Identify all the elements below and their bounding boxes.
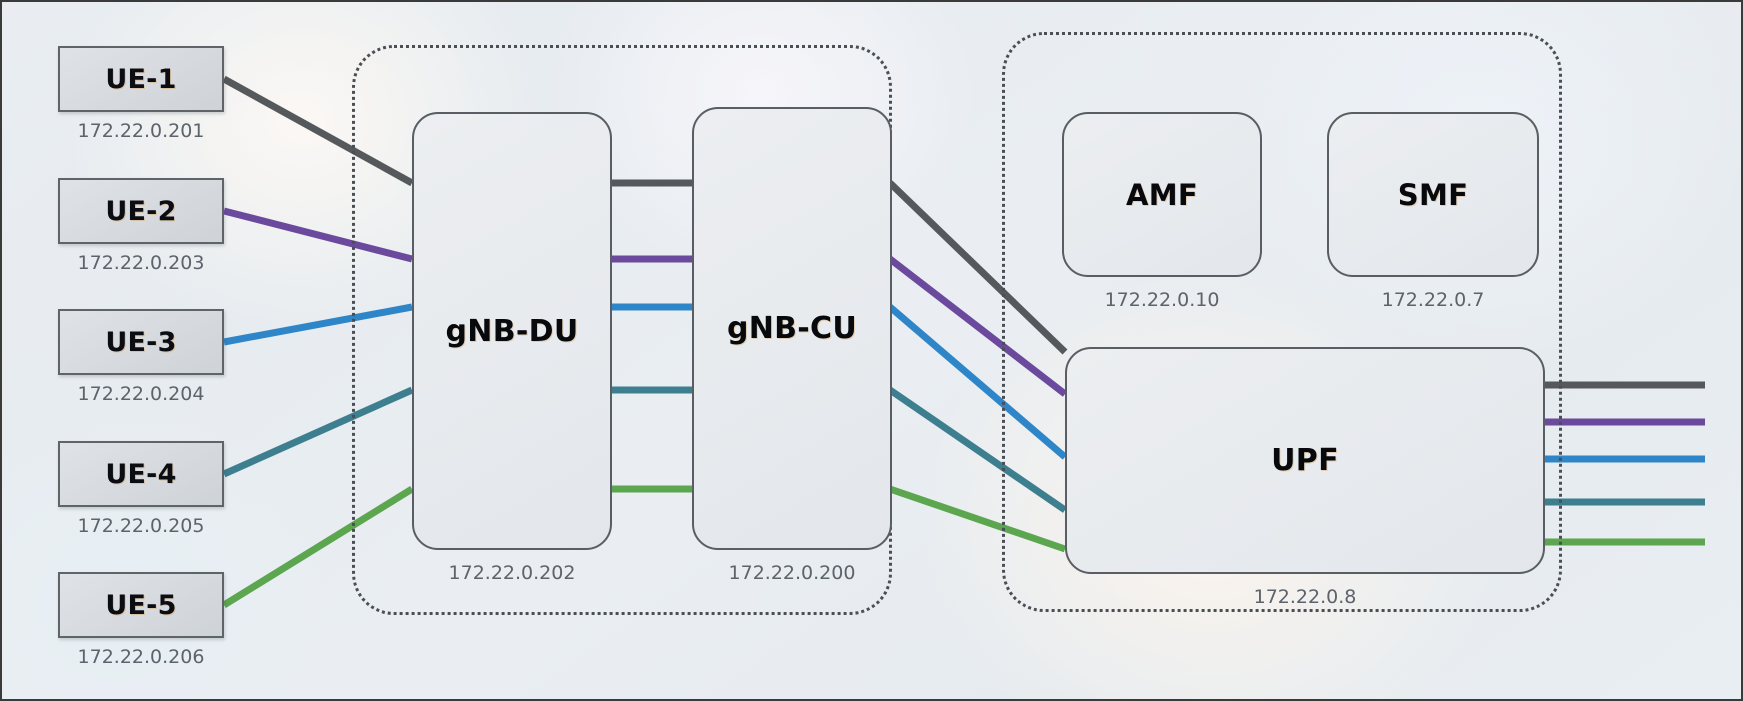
network-function-gnb-du[interactable]: gNB-DU [412,112,612,550]
network-function-label: UPF [1271,443,1339,478]
gnb-cu-ip-label: 172.22.0.200 [692,562,892,584]
ue-node-ue-4[interactable]: UE-4 [58,441,224,507]
network-function-upf[interactable]: UPF [1065,347,1545,574]
network-function-gnb-cu[interactable]: gNB-CU [692,107,892,550]
gnb-du-ip-label: 172.22.0.202 [412,562,612,584]
network-function-label: AMF [1126,178,1198,212]
ue-node-ue-3[interactable]: UE-3 [58,309,224,375]
ue-node-ue-1[interactable]: UE-1 [58,46,224,112]
ue-node-label: UE-2 [105,196,176,227]
smf-ip-label: 172.22.0.7 [1327,289,1539,311]
network-function-label: SMF [1398,178,1468,212]
ue-node-label: UE-5 [105,590,176,621]
ue-ip-label-ue-2: 172.22.0.203 [58,252,224,274]
ue-node-ue-2[interactable]: UE-2 [58,178,224,244]
network-function-label: gNB-DU [446,314,579,349]
network-function-amf[interactable]: AMF [1062,112,1262,277]
network-function-label: gNB-CU [727,311,857,346]
network-topology-diagram: UE-1 172.22.0.201 UE-2 172.22.0.203 UE-3… [0,0,1743,701]
ue-node-label: UE-4 [105,459,176,490]
network-function-smf[interactable]: SMF [1327,112,1539,277]
ue-ip-label-ue-4: 172.22.0.205 [58,515,224,537]
ue-node-label: UE-3 [105,327,176,358]
upf-ip-label: 172.22.0.8 [1065,586,1545,608]
ue-ip-label-ue-5: 172.22.0.206 [58,646,224,668]
ue-node-label: UE-1 [105,64,176,95]
ue-ip-label-ue-3: 172.22.0.204 [58,383,224,405]
amf-ip-label: 172.22.0.10 [1062,289,1262,311]
ue-node-ue-5[interactable]: UE-5 [58,572,224,638]
nodes-layer: UE-1 172.22.0.201 UE-2 172.22.0.203 UE-3… [2,2,1743,701]
ue-ip-label-ue-1: 172.22.0.201 [58,120,224,142]
